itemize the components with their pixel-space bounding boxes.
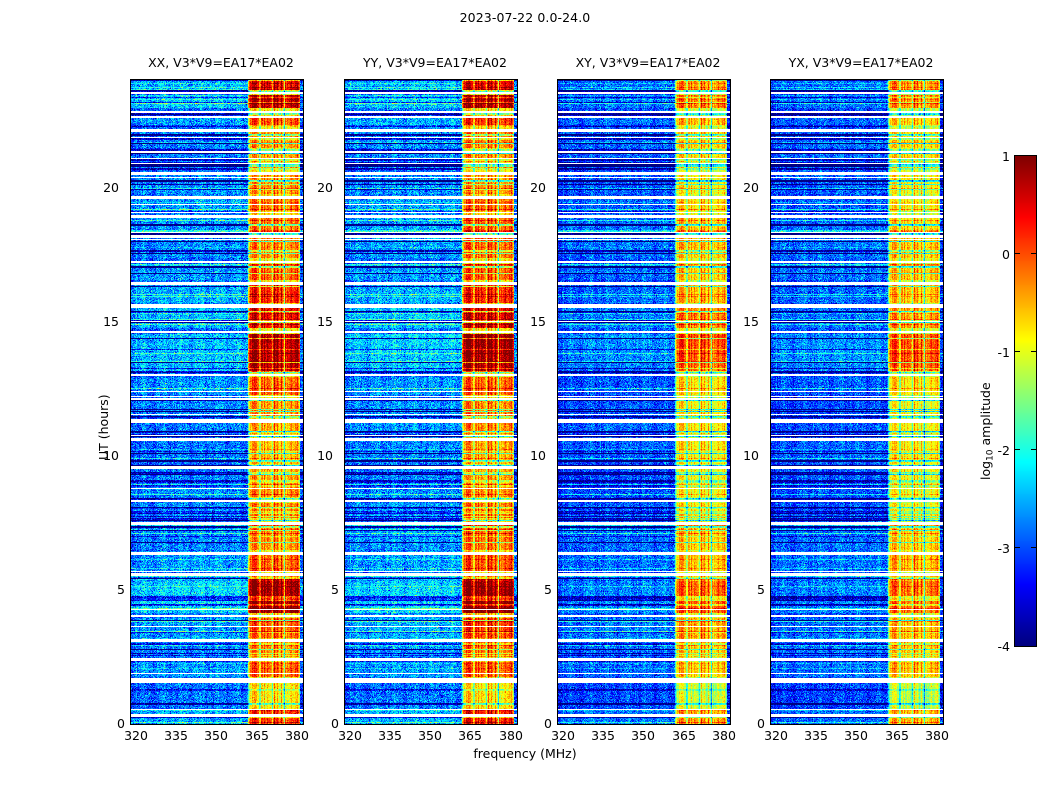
colorbar-label: log10 amplitude [978,382,995,480]
ytick-label-p3-5: 5 [522,582,552,597]
xtick-label-p4-350: 350 [836,728,876,743]
ytick-label-p3-20: 20 [516,180,546,195]
xtick-label-p3-380: 380 [704,728,744,743]
spectrogram-figure: 2023-07-22 0.0-24.0 XX, V3*V9=EA17*EA02 … [0,0,1050,800]
ytick-label-p4-5: 5 [735,582,765,597]
ytick-label-p2-5: 5 [309,582,339,597]
xtick-label-p3-335: 335 [583,728,623,743]
xtick-label-p1-335: 335 [156,728,196,743]
colorbar-tick-0: 0 [984,247,1010,262]
colorbar-tick-neg3: -3 [984,541,1010,556]
spectrogram-panel-xx[interactable] [130,79,304,725]
ytick-label-p2-15: 15 [303,314,333,329]
ytick-label-p2-10: 10 [303,448,333,463]
colorbar-tick-neg4: -4 [984,639,1010,654]
ytick-label-5: 5 [95,582,125,597]
colorbar-tick-neg1: -1 [984,345,1010,360]
spectrogram-image-xx [131,80,303,724]
xtick-label-p1-365: 365 [237,728,277,743]
spectrogram-panel-yy[interactable] [344,79,518,725]
xtick-label-p4-365: 365 [877,728,917,743]
figure-suptitle: 2023-07-22 0.0-24.0 [0,10,1050,25]
ytick-label-20: 20 [89,180,119,195]
xtick-label-p4-380: 380 [917,728,957,743]
ytick-label-15: 15 [89,314,119,329]
x-axis-label: frequency (MHz) [0,746,1050,761]
xtick-label-p1-350: 350 [196,728,236,743]
panel-title-xy: XY, V3*V9=EA17*EA02 [538,55,758,70]
xtick-label-p3-365: 365 [664,728,704,743]
spectrogram-panel-xy[interactable] [557,79,731,725]
ytick-label-p4-20: 20 [729,180,759,195]
xtick-label-p2-365: 365 [450,728,490,743]
colorbar-label-sub: 10 [985,449,995,460]
xtick-label-p3-350: 350 [623,728,663,743]
xtick-label-p3-320: 320 [543,728,583,743]
colorbar-tick-1: 1 [984,149,1010,164]
xtick-label-p2-335: 335 [370,728,410,743]
xtick-label-p2-350: 350 [410,728,450,743]
ytick-label-p2-20: 20 [303,180,333,195]
ytick-label-p4-15: 15 [729,314,759,329]
colorbar-label-suffix: amplitude [978,382,993,449]
xtick-label-p1-380: 380 [277,728,317,743]
colorbar[interactable] [1014,155,1037,647]
ytick-label-p4-10: 10 [729,448,759,463]
ytick-label-p3-10: 10 [516,448,546,463]
spectrogram-image-yy [345,80,517,724]
xtick-label-p4-320: 320 [756,728,796,743]
ytick-label-p3-15: 15 [516,314,546,329]
colorbar-gradient [1015,156,1036,646]
colorbar-label-prefix: log [978,461,993,480]
spectrogram-image-yx [771,80,943,724]
xtick-label-p4-335: 335 [796,728,836,743]
ytick-label-10: 10 [89,448,119,463]
panel-title-yx: YX, V3*V9=EA17*EA02 [751,55,971,70]
xtick-label-p2-320: 320 [330,728,370,743]
spectrogram-panel-yx[interactable] [770,79,944,725]
panel-title-xx: XX, V3*V9=EA17*EA02 [111,55,331,70]
panel-title-yy: YY, V3*V9=EA17*EA02 [325,55,545,70]
spectrogram-image-xy [558,80,730,724]
xtick-label-p1-320: 320 [116,728,156,743]
xtick-label-p2-380: 380 [491,728,531,743]
